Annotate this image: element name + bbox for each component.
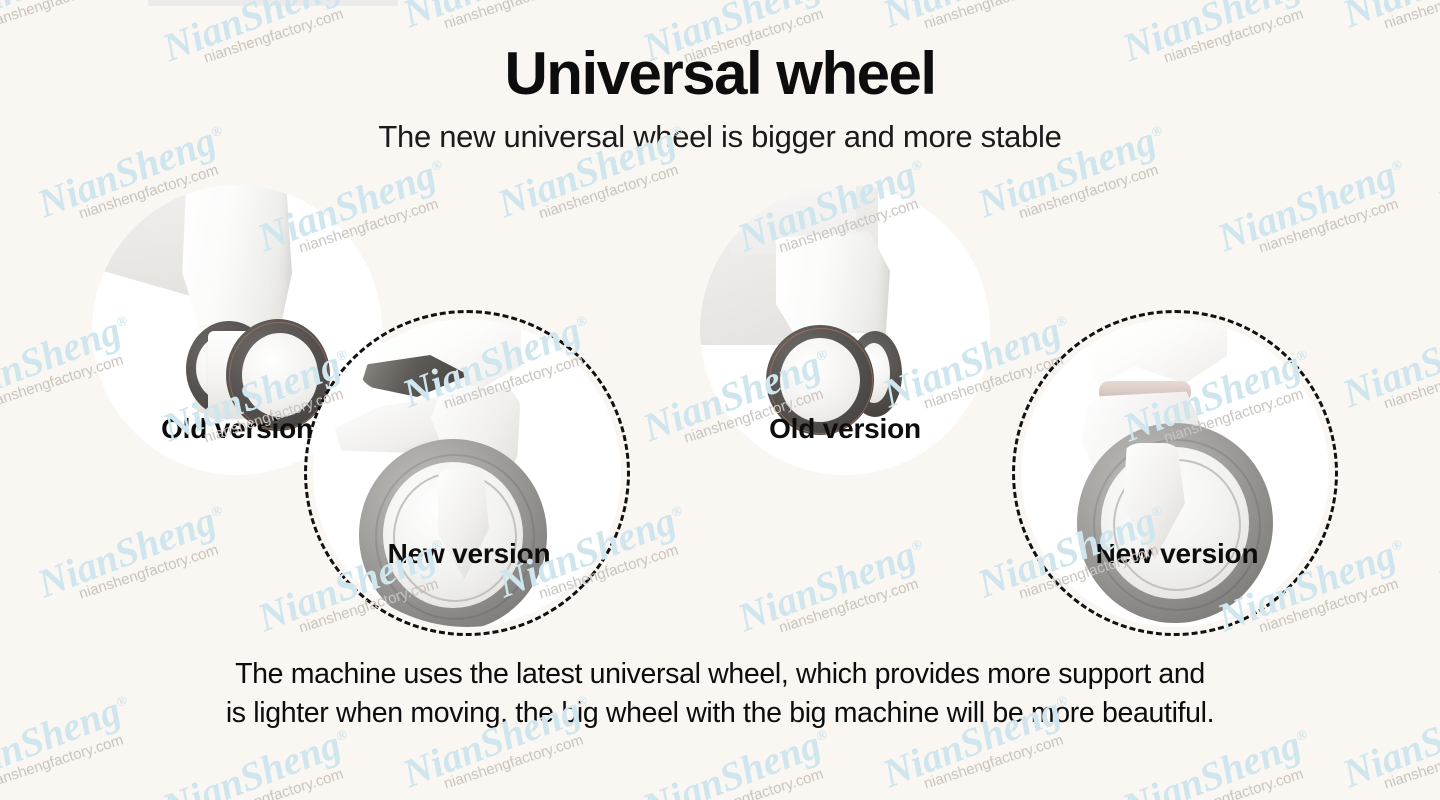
header: Universal wheel The new universal wheel … (0, 0, 1440, 155)
comparison-pair-1: Old version (92, 185, 752, 625)
new-version-caption-2: New version (1012, 538, 1342, 570)
dashed-highlight-ring-1 (304, 310, 630, 636)
new-version-card-1: New version (304, 310, 634, 650)
footer-line-2: is lighter when moving, the big wheel wi… (140, 694, 1300, 733)
watermark-site: nianshengfactory.com (922, 726, 1082, 793)
comparison-section: Old version (0, 185, 1440, 625)
new-version-photo-1 (304, 310, 630, 636)
watermark-site: nianshengfactory.com (1162, 760, 1322, 800)
new-version-caption-1: New version (304, 538, 634, 570)
footer-line-1: The machine uses the latest universal wh… (140, 655, 1300, 694)
comparison-pair-2: Old version (700, 185, 1360, 625)
old-version-caption-2: Old version (700, 413, 990, 445)
footer-description: The machine uses the latest universal wh… (0, 655, 1440, 734)
watermark-site: nianshengfactory.com (202, 760, 362, 800)
caster-stem (180, 185, 292, 336)
watermark-site: nianshengfactory.com (1382, 726, 1440, 793)
page-subtitle: The new universal wheel is bigger and mo… (0, 105, 1440, 155)
watermark-site: nianshengfactory.com (442, 726, 602, 793)
watermark-site: nianshengfactory.com (0, 726, 142, 793)
watermark-site: nianshengfactory.com (682, 760, 842, 800)
new-version-photo-2 (1012, 310, 1338, 636)
page-title: Universal wheel (0, 0, 1440, 105)
new-version-card-2: New version (1012, 310, 1342, 650)
dashed-highlight-ring-2 (1012, 310, 1338, 636)
old-version-card-2: Old version (700, 185, 990, 485)
old-version-caption-1: Old version (92, 413, 382, 445)
